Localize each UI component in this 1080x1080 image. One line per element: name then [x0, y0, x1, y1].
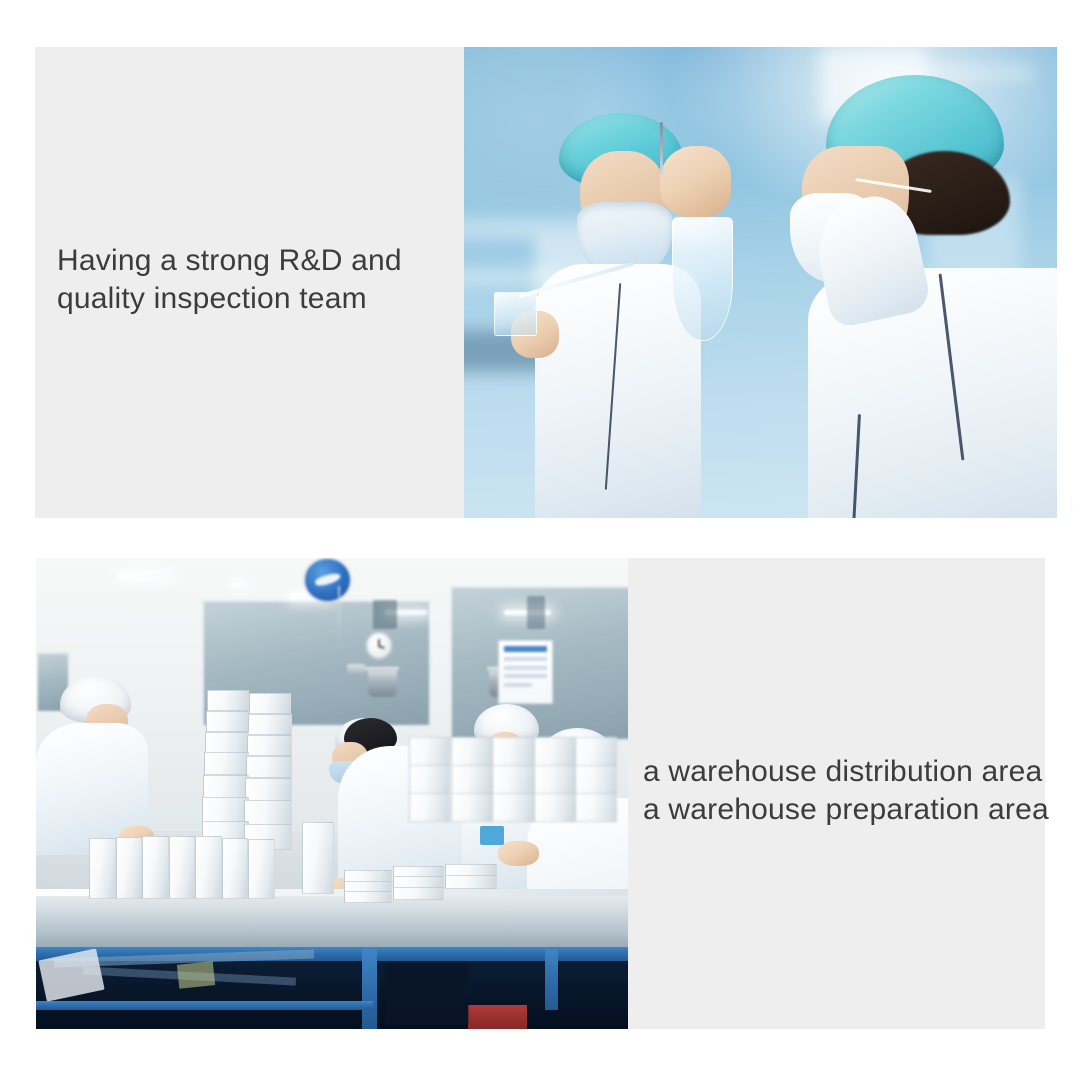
hand	[498, 841, 539, 867]
specimen-bottle	[494, 292, 538, 336]
caption-rd-quality-line-2: quality inspection team	[57, 280, 457, 318]
carton-stack-flat	[344, 845, 498, 897]
carton-stack-back	[409, 737, 628, 841]
table-frame-leg	[545, 949, 558, 1010]
table-frame-leg	[362, 949, 377, 1029]
caption-warehouse-line-2: a warehouse preparation area	[643, 791, 1047, 829]
conical-flask	[672, 217, 733, 341]
steel-container	[368, 669, 398, 697]
ceiling-light	[119, 572, 172, 580]
wall-fixture	[527, 596, 545, 629]
laboratory-inspection-photo	[464, 47, 1057, 518]
tweezers	[660, 122, 663, 174]
wall-poster	[498, 640, 553, 703]
steel-lid	[347, 664, 365, 676]
red-crate	[468, 1005, 527, 1029]
dark-equipment	[385, 963, 468, 1024]
hanging-wire	[338, 586, 340, 652]
caption-warehouse: a warehouse distribution area a warehous…	[643, 753, 1047, 829]
blue-circular-sign	[305, 559, 349, 601]
ceiling-light	[231, 582, 249, 588]
caption-warehouse-line-1: a warehouse distribution area	[643, 753, 1047, 791]
hand	[660, 146, 731, 217]
caption-rd-quality: Having a strong R&D and quality inspecti…	[57, 242, 457, 318]
page-root: Having a strong R&D and quality inspecti…	[0, 0, 1080, 1080]
carton-column	[202, 690, 297, 850]
carton-row-upright	[89, 836, 278, 897]
steel-work-table	[36, 892, 628, 949]
carton-tall	[302, 822, 334, 895]
caption-rd-quality-line-1: Having a strong R&D and	[57, 242, 457, 280]
warehouse-packaging-photo	[36, 558, 628, 1029]
table-frame-crossbar	[36, 1001, 373, 1010]
floor-marking	[177, 961, 215, 988]
wall-fixture	[373, 600, 397, 628]
